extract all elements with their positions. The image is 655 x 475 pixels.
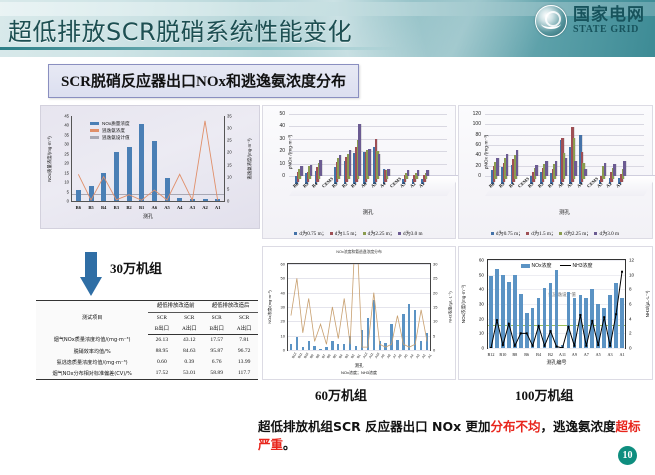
chart5-plot-area: 0102030405060024681012氨逃逸设计值B12B10B8B6B4…: [487, 259, 626, 349]
chart5-ytick: 0: [466, 346, 484, 351]
chart4-y2tick: 0: [433, 348, 449, 353]
chart1-xtick: B1: [139, 205, 144, 210]
chart5-ytick: 40: [466, 287, 484, 292]
logo-name-en: STATE GRID: [573, 25, 645, 35]
table-cell: 26.13: [148, 335, 175, 346]
chart3-bar: [604, 163, 607, 176]
chart2-ytick: 30: [265, 136, 285, 142]
chart3-legend-item: d为0.75 m；: [491, 231, 524, 237]
chart5-xtick: B8: [512, 352, 517, 357]
chart1-ytick: 45: [55, 114, 69, 119]
chart2-legend-swatch: [330, 232, 333, 235]
chart3-gridline: [485, 145, 644, 146]
chart5-xtick: A5: [596, 352, 601, 357]
conclusion-part1: 超低排放机组SCR 反应器出口 NOx 更加: [258, 419, 491, 434]
table-subheader: SCR: [148, 312, 175, 323]
table-row: 烟气NOx分布相对标准偏差(CV)/%17.5253.0158.89117.7: [36, 368, 258, 379]
chart4-ytick: 10: [268, 333, 285, 338]
table-subheader: SCR: [203, 312, 230, 323]
chart2-bar: [368, 149, 371, 176]
chart5-xtick: B4: [536, 352, 541, 357]
chart5-xtick: A11: [559, 352, 566, 357]
chart1-xtick: B2: [126, 205, 131, 210]
chart3-ytick: 120: [461, 111, 481, 117]
globe-icon: [535, 5, 567, 37]
chart4-ytick: 60: [268, 262, 285, 267]
chart1-ytick: 30: [55, 142, 69, 147]
chart1-y2tick: 5: [227, 186, 241, 191]
chart5-legend-item: NH3浓度: [560, 262, 593, 269]
table-cell: 13.99: [230, 357, 258, 368]
chart2-bar: [378, 154, 381, 176]
chart2-gridline: [289, 114, 447, 115]
chart5-xtick: B2: [548, 352, 553, 357]
chart1-xtick: A3: [190, 205, 196, 210]
chart3-bar: [555, 161, 558, 177]
table-row-label: 烟气NOx分布相对标准偏差(CV)/%: [36, 368, 148, 379]
table-cell: 43.12: [175, 335, 203, 346]
chart4-y2tick: 30: [433, 262, 449, 267]
chart2-bar: [349, 150, 352, 176]
chart3-legend-swatch: [594, 232, 597, 235]
conclusion-part3: 。: [283, 437, 296, 452]
down-arrow-icon: [80, 252, 102, 296]
table-cell: 88.95: [148, 346, 175, 357]
chart3-ytick: 20: [461, 163, 481, 169]
chart5-xtick: A7: [584, 352, 589, 357]
chart5-y2tick: 6: [629, 302, 645, 307]
chart4-xtick: B9: [309, 353, 314, 359]
chart4-y2label: NH3浓度/(μL·L⁻¹): [447, 291, 453, 322]
chart3-legend: d为0.75 m；d为1.5 m；d为2.25 m；d为3.0 m: [459, 230, 652, 237]
chart5-legend-label: NOx浓度: [531, 262, 551, 269]
chart1-xtick: A6: [152, 205, 158, 210]
chart4-ylabel: NOx浓度/(mg·m⁻³): [267, 290, 273, 323]
chart2-legend-item: d为3.0 m: [398, 231, 424, 237]
chart1-legend-label: 逃逸氨浓度: [102, 127, 125, 134]
chart5-nh3-line: [488, 260, 625, 348]
label-unit-30: 30万机组: [110, 258, 162, 277]
chart4-legend: NOx浓度；NH3浓度: [341, 370, 377, 376]
table-row-label: 烟气NOx质量浓度均值/(mg·m⁻³): [36, 335, 148, 346]
chart4-xtick: B1: [356, 353, 361, 359]
chart1-legend-item: 逃逸氨浓度: [90, 127, 130, 134]
chart3-gridline: [485, 114, 644, 115]
chart1-xtick: B6: [76, 205, 81, 210]
chart3-legend-label: d为3.0 m: [599, 231, 619, 237]
chart1-legend-label: 逃逸氨设计值: [102, 134, 130, 141]
chart3-ytick: 40: [461, 152, 481, 158]
chart5-y2tick: 0: [629, 346, 645, 351]
chart-nox-ammonia-combo: 05101520253035404505101520253035B6B5B4B3…: [40, 105, 260, 229]
chart4-ytick: 50: [268, 276, 285, 281]
chart3-legend-label: d为2.25 m；: [564, 231, 591, 237]
chart5-y2tick: 8: [629, 287, 645, 292]
chart4-xtick: B3: [344, 353, 349, 359]
chart1-ytick: 40: [55, 123, 69, 128]
chart2-bar: [426, 170, 429, 176]
chart5-ytick: 20: [466, 316, 484, 321]
chart3-ytick: 0: [461, 173, 481, 179]
chart1-ytick: 25: [55, 151, 69, 156]
chart2-bar: [319, 160, 322, 176]
chart2-ytick: 50: [265, 111, 285, 117]
chart4-y2tick: 5: [433, 333, 449, 338]
conclusion-part2: ，逃逸氨浓度: [541, 419, 616, 434]
chart5-y2tick: 2: [629, 331, 645, 336]
chart1-xtick: A1: [215, 205, 221, 210]
logo-text: 国家电网 STATE GRID: [573, 7, 645, 35]
chart5-ylabel: NOx浓度/(mg·m⁻³): [461, 285, 467, 323]
chart2-legend-swatch: [363, 232, 366, 235]
chart1-xtick: B4: [101, 205, 106, 210]
chart1-xtick: A4: [177, 205, 183, 210]
chart2-plot-area: 01020304050B6B5B4CEMSB3B2B1A6A5A4CEMSA3A…: [289, 114, 447, 196]
chart-100mw-distribution: 0102030405060024681012氨逃逸设计值B12B10B8B6B4…: [458, 246, 653, 380]
chart5-ytick: 10: [466, 331, 484, 336]
chart3-gridline: [485, 135, 644, 136]
chart3-legend-label: d为0.75 m；: [496, 231, 523, 237]
chart1-legend-swatch: [90, 122, 99, 125]
chart2-ytick: 10: [265, 161, 285, 167]
chart2-legend-label: d为3.0 m: [403, 231, 423, 237]
chart1-xlabel: 测孔: [143, 213, 153, 220]
chart5-xtick: B12: [487, 352, 494, 357]
table-cell: 0.39: [175, 357, 203, 368]
chart2-gridline: [289, 139, 447, 140]
chart1-legend-item: 逃逸氨设计值: [90, 134, 130, 141]
chart1-y2tick: 15: [227, 162, 241, 167]
chart1-xtick: A2: [202, 205, 208, 210]
chart5-ytick: 30: [466, 302, 484, 307]
chart5-ytick: 60: [466, 258, 484, 263]
chart3-xlabel: 测孔: [559, 208, 570, 216]
chart5-xtick: A3: [608, 352, 613, 357]
chart5-y2tick: 12: [629, 258, 645, 263]
table-cell: 6.76: [203, 357, 230, 368]
chart3-legend-swatch: [559, 232, 562, 235]
chart2-ytick: 0: [265, 173, 285, 179]
chart4-ytick: 0: [268, 348, 285, 353]
chart4-xtick: B11: [297, 352, 303, 359]
chart1-legend-swatch: [90, 129, 99, 132]
chart3-plot-area: 020406080100120B6B5B4CEMSB3B2B1A6A5A4CEM…: [485, 114, 644, 196]
chart3-legend-swatch: [491, 232, 494, 235]
table-col-item: 测试项目: [36, 301, 148, 335]
chart5-y2label: NH3/(μL·L⁻¹): [645, 291, 651, 318]
table-cell: 17.57: [203, 335, 230, 346]
chart3-gridline: [485, 124, 644, 125]
label-unit-60: 60万机组: [315, 385, 367, 404]
chart5-xtick: B6: [524, 352, 529, 357]
chart5-y2tick: 10: [629, 272, 645, 277]
chart1-y2label: 逃逸氨浓度/(mg·m⁻³): [247, 138, 253, 179]
chart1-xtick: B3: [114, 205, 119, 210]
chart2-legend-item: d为2.25 m；: [363, 231, 396, 237]
table-group-after: 超低排放改造后: [203, 301, 258, 313]
chart5-legend-swatch: [560, 265, 571, 266]
chart2-legend: d为0.75 m；d为1.5 m；d为2.25 m；d为3.0 m: [263, 230, 455, 237]
chart2-ylabel: ρNOx /(mg·m⁻³): [289, 134, 294, 169]
chart3-ylabel: ρNOx /(mg·m⁻³): [485, 134, 490, 169]
chart1-legend: NOx质量浓度逃逸氨浓度逃逸氨设计值: [90, 120, 130, 141]
chart2-bar: [300, 166, 303, 176]
chart-60mw-distribution: NOx浓度和氨逃逸浓度分布 0010520103015402050256030B…: [262, 246, 456, 380]
chart2-legend-item: d为1.5 m；: [330, 231, 361, 237]
chart5-gridline: [488, 348, 625, 349]
chart4-y2tick: 25: [433, 276, 449, 281]
chart2-legend-swatch: [294, 232, 297, 235]
table-cell: 117.7: [230, 368, 258, 379]
chart3-legend-item: d为2.25 m；: [559, 231, 592, 237]
chart4-plot-area: 0010520103015402050256030B12B11B10B9B8B7…: [287, 263, 431, 351]
chart3-bar: [506, 154, 509, 176]
table-row: 脱硝效率均值/%88.9584.6395.8796.72: [36, 346, 258, 357]
page-number-badge: 10: [618, 446, 637, 465]
chart-nox-3d-before: 01020304050B6B5B4CEMSB3B2B1A6A5A4CEMSA3A…: [262, 105, 456, 239]
chart1-ytick: 20: [55, 161, 69, 166]
chart-nox-3d-after: 020406080100120B6B5B4CEMSB3B2B1A6A5A4CEM…: [458, 105, 653, 239]
chart3-ytick: 80: [461, 132, 481, 138]
chart1-y2tick: 35: [227, 114, 241, 119]
chart5-legend-label: NH3浓度: [573, 262, 593, 269]
table-subheader: SCR: [230, 312, 258, 323]
table-cell: 17.52: [148, 368, 175, 379]
chart1-y2tick: 20: [227, 150, 241, 155]
table-subheader: SCR: [175, 312, 203, 323]
section-subtitle-text: SCR脱硝反应器出口NOx和逃逸氨浓度分布: [61, 74, 346, 90]
chart4-xtick: A1: [427, 353, 432, 359]
chart5-xtick: A1: [619, 352, 624, 357]
chart2-legend-label: d为0.75 m；: [299, 231, 326, 237]
chart4-xlabel: 测孔: [355, 363, 364, 369]
chart2-ytick: 20: [265, 148, 285, 154]
slide-header: 超低排放SCR脱硝系统性能变化 国家电网 STATE GRID: [0, 0, 655, 57]
table-cell: 0.60: [148, 357, 175, 368]
chart5-xtick: B10: [499, 352, 506, 357]
table-row-label: 氨逃逸质量浓度均值/(mg·m⁻³): [36, 357, 148, 368]
chart3-bar: [516, 150, 519, 176]
conclusion-highlight1: 分布不均: [491, 419, 541, 434]
chart1-ytick: 0: [55, 199, 69, 204]
title-underline: [0, 47, 400, 50]
chart4-xtick: B2: [350, 353, 355, 359]
chart4-xtick: A2: [421, 353, 426, 359]
table-port: A出口: [230, 324, 258, 335]
chart1-y2tick: 10: [227, 174, 241, 179]
table-cell: 7.81: [230, 335, 258, 346]
state-grid-logo: 国家电网 STATE GRID: [535, 5, 645, 37]
chart3-ytick: 100: [461, 121, 481, 127]
chart5-ytick: 50: [466, 272, 484, 277]
conclusion-text: 超低排放机组SCR 反应器出口 NOx 更加分布不均，逃逸氨浓度超标严重。: [258, 418, 650, 454]
chart4-gridline: [288, 350, 430, 351]
chart3-bar: [535, 165, 538, 176]
chart3-bar: [574, 161, 577, 177]
chart3-bar: [613, 164, 616, 176]
label-unit-100: 100万机组: [515, 385, 574, 404]
table-port: B出口: [203, 324, 230, 335]
chart2-xlabel: 测孔: [363, 208, 374, 216]
chart2-legend-label: d为1.5 m；: [335, 231, 360, 237]
chart1-legend-swatch: [90, 136, 99, 139]
chart2-bar: [417, 170, 420, 176]
chart2-legend-label: d为2.25 m；: [368, 231, 395, 237]
chart3-bar: [496, 158, 499, 176]
chart1-y2tick: 0: [227, 199, 241, 204]
chart1-y2tick: 25: [227, 138, 241, 143]
chart5-legend: NOx浓度NH3浓度: [520, 262, 592, 269]
chart4-xtick: A8: [386, 353, 391, 359]
chart1-xtick: A5: [164, 205, 170, 210]
chart3-legend-item: d为3.0 m: [594, 231, 620, 237]
chart1-ytick: 5: [55, 189, 69, 194]
chart1-xtick: B5: [88, 205, 93, 210]
chart3-legend-label: d为1.5 m；: [531, 231, 556, 237]
chart5-xtick: A9: [572, 352, 577, 357]
table-port: B出口: [148, 324, 175, 335]
chart1-y2tick: 30: [227, 126, 241, 131]
chart3-legend-item: d为1.5 m；: [526, 231, 557, 237]
chart1-ytick: 10: [55, 180, 69, 185]
table-row-label: 脱硝效率均值/%: [36, 346, 148, 357]
chart5-legend-item: NOx浓度: [520, 262, 551, 269]
table-row: 氨逃逸质量浓度均值/(mg·m⁻³)0.600.396.7613.99: [36, 357, 258, 368]
table-cell: 53.01: [175, 368, 203, 379]
chart4-xtick: A3: [415, 353, 420, 359]
chart2-bar: [310, 165, 313, 176]
table-cell: 95.87: [203, 346, 230, 357]
chart4-xtick: A9: [380, 353, 385, 359]
chart5-y2tick: 4: [629, 316, 645, 321]
chart2-legend-swatch: [398, 232, 401, 235]
chart4-xtick: B8: [315, 353, 320, 359]
table-cell: 84.63: [175, 346, 203, 357]
chart2-legend-item: d为0.75 m；: [294, 231, 327, 237]
chart3-ytick: 60: [461, 142, 481, 148]
chart1-ytick: 15: [55, 170, 69, 175]
chart5-legend-swatch: [520, 264, 529, 268]
chart4-title: NOx浓度和氨逃逸浓度分布: [263, 250, 455, 255]
table-cell: 58.89: [203, 368, 230, 379]
chart3-bar: [565, 158, 568, 176]
chart2-bar: [407, 170, 410, 176]
table-port: A出口: [175, 324, 203, 335]
chart2-bar: [358, 124, 361, 176]
chart1-legend-item: NOx质量浓度: [90, 120, 130, 127]
chart3-bar: [545, 161, 548, 176]
chart4-xtick: A11: [368, 352, 374, 359]
page-title: 超低排放SCR脱硝系统性能变化: [8, 12, 352, 47]
chart1-plot-area: 05101520253035404505101520253035B6B5B4B3…: [71, 116, 225, 202]
table-row: 烟气NOx质量浓度均值/(mg·m⁻³)26.1343.1217.577.81: [36, 335, 258, 346]
chart1-legend-label: NOx质量浓度: [102, 120, 130, 127]
chart2-ytick: 40: [265, 123, 285, 129]
table-group-before: 超低排放改造前: [148, 301, 203, 313]
performance-table: 测试项目超低排放改造前超低排放改造后SCRSCRSCRSCRB出口A出口B出口A…: [36, 300, 258, 380]
chart3-bar: [623, 161, 626, 177]
chart2-bar: [387, 169, 390, 176]
chart4-nh3-line: [288, 264, 430, 350]
table-header-row: 测试项目超低排放改造前超低排放改造后: [36, 301, 258, 313]
chart2-bar: [339, 155, 342, 176]
chart3-legend-swatch: [526, 232, 529, 235]
chart3-bar: [584, 169, 587, 176]
section-subtitle: SCR脱硝反应器出口NOx和逃逸氨浓度分布: [48, 64, 359, 98]
logo-name-cn: 国家电网: [573, 7, 645, 24]
chart5-xlabel: 测孔编号: [546, 359, 566, 366]
chart1-ytick: 35: [55, 132, 69, 137]
chart1-ylabel: NOx质量浓度/(mg·m⁻³): [47, 136, 53, 182]
chart2-gridline: [289, 126, 447, 127]
table-cell: 96.72: [230, 346, 258, 357]
